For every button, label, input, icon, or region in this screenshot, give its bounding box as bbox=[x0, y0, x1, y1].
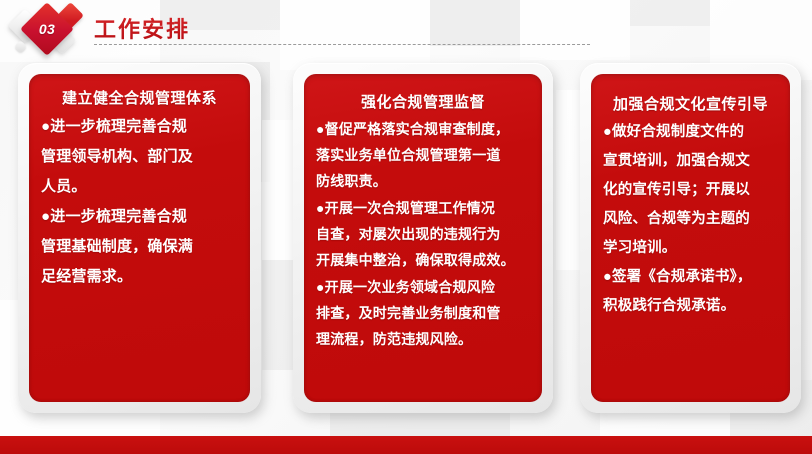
card-2-line-2: 落实业务单位合规管理第一道 bbox=[316, 142, 530, 168]
card-3-line-5: 学习培训。 bbox=[603, 234, 778, 263]
card-2-line-7: ●开展一次业务领域合规风险 bbox=[316, 274, 530, 300]
content-card-2[interactable]: 强化合规管理监督 ●督促严格落实合规审查制度， 落实业务单位合规管理第一道 防线… bbox=[293, 63, 553, 413]
card-2-line-9: 理流程，防范违规风险。 bbox=[316, 326, 530, 352]
footer-accent-bar bbox=[0, 436, 812, 454]
card-3-body: ●做好合规制度文件的 宣贯培训，加强合规文 化的宣传引导；开展以 风险、合规等为… bbox=[603, 118, 778, 321]
content-card-1[interactable]: 建立健全合规管理体系 ●进一步梳理完善合规 管理领导机构、部门及 人员。 ●进一… bbox=[18, 63, 261, 413]
card-3-panel: 加强合规文化宣传引导 ●做好合规制度文件的 宣贯培训，加强合规文 化的宣传引导；… bbox=[591, 74, 790, 402]
card-1-line-6: 足经营需求。 bbox=[41, 262, 238, 292]
card-1-body: ●进一步梳理完善合规 管理领导机构、部门及 人员。 ●进一步梳理完善合规 管理基… bbox=[41, 112, 238, 292]
card-1-line-5: 管理基础制度，确保满 bbox=[41, 232, 238, 262]
page-title: 工作安排 bbox=[94, 12, 190, 44]
slide-canvas: 03 工作安排 建立健全合规管理体系 ●进一步梳理完善合规 管理领导机构、部门及… bbox=[0, 0, 812, 454]
card-1-line-1: ●进一步梳理完善合规 bbox=[41, 112, 238, 142]
card-3-title: 加强合规文化宣传引导 bbox=[603, 94, 778, 116]
card-3-line-3: 化的宣传引导；开展以 bbox=[603, 176, 778, 205]
header-dashed-divider bbox=[94, 44, 590, 45]
card-1-title: 建立健全合规管理体系 bbox=[41, 88, 238, 110]
card-1-panel: 建立健全合规管理体系 ●进一步梳理完善合规 管理领导机构、部门及 人员。 ●进一… bbox=[29, 74, 250, 402]
card-3-line-2: 宣贯培训，加强合规文 bbox=[603, 147, 778, 176]
card-3-line-1: ●做好合规制度文件的 bbox=[603, 118, 778, 147]
card-2-line-6: 开展集中整治，确保取得成效。 bbox=[316, 247, 530, 273]
card-1-line-4: ●进一步梳理完善合规 bbox=[41, 202, 238, 232]
card-2-line-5: 自查，对屡次出现的违规行为 bbox=[316, 221, 530, 247]
card-3-line-4: 风险、合规等为主题的 bbox=[603, 205, 778, 234]
card-1-line-3: 人员。 bbox=[41, 172, 238, 202]
card-3-line-6: ●签署《合规承诺书》， bbox=[603, 263, 778, 292]
card-3-line-7: 积极践行合规承诺。 bbox=[603, 292, 778, 321]
card-1-line-2: 管理领导机构、部门及 bbox=[41, 142, 238, 172]
card-2-title: 强化合规管理监督 bbox=[316, 92, 530, 114]
card-2-panel: 强化合规管理监督 ●督促严格落实合规审查制度， 落实业务单位合规管理第一道 防线… bbox=[304, 74, 542, 402]
card-2-line-8: 排查，及时完善业务制度和管 bbox=[316, 300, 530, 326]
step-number: 03 bbox=[28, 10, 66, 48]
card-2-line-4: ●开展一次合规管理工作情况 bbox=[316, 195, 530, 221]
card-2-body: ●督促严格落实合规审查制度， 落实业务单位合规管理第一道 防线职责。 ●开展一次… bbox=[316, 116, 530, 353]
card-2-line-1: ●督促严格落实合规审查制度， bbox=[316, 116, 530, 142]
diamond-badge-icon: 03 bbox=[8, 2, 94, 60]
content-card-3[interactable]: 加强合规文化宣传引导 ●做好合规制度文件的 宣贯培训，加强合规文 化的宣传引导；… bbox=[580, 63, 801, 413]
card-2-line-3: 防线职责。 bbox=[316, 168, 530, 194]
slide-header: 03 工作安排 bbox=[0, 0, 812, 62]
